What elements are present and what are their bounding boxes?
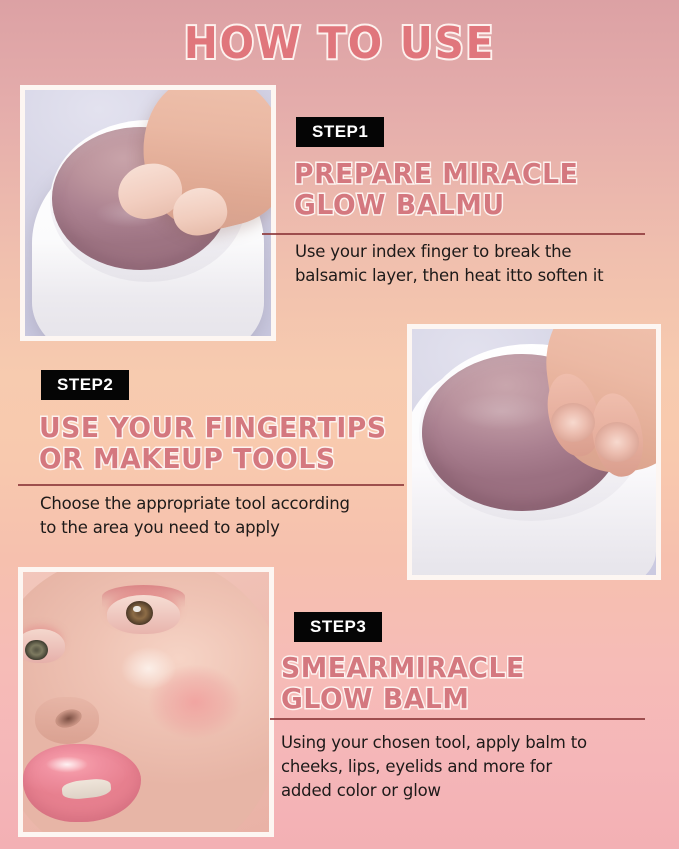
step-2-photo-image xyxy=(412,329,656,575)
step-1-heading: PREPARE MIRACLE GLOW BALMU xyxy=(294,158,636,221)
fingertip-first xyxy=(551,403,595,442)
fingertip-second xyxy=(595,422,639,461)
step-3-divider xyxy=(270,718,645,720)
step-3-photo-image xyxy=(23,572,269,832)
step-2-divider xyxy=(18,484,404,486)
iris-left xyxy=(25,640,47,661)
page-title: HOW TO USE xyxy=(27,22,652,66)
step-1-divider xyxy=(262,233,645,235)
cheek-highlight xyxy=(112,640,186,697)
step-3-badge: STEP3 xyxy=(294,612,382,642)
step-2-photo xyxy=(407,324,661,580)
how-to-use-poster: HOW TO USE STEP1 PREPARE MIRACLE GLOW BA… xyxy=(0,0,679,849)
lip-gloss-highlight xyxy=(40,754,94,775)
step-2-badge: STEP2 xyxy=(41,370,129,400)
step-2-heading: USE YOUR FINGERTIPS OR MAKEUP TOOLS xyxy=(39,412,400,475)
step-1-photo xyxy=(20,85,276,341)
step-3-photo xyxy=(18,567,274,837)
step-1-body-text: Use your index finger to break the balsa… xyxy=(295,240,655,288)
step-1-photo-image xyxy=(25,90,271,336)
step-1-badge: STEP1 xyxy=(296,117,384,147)
step-3-body-text: Using your chosen tool, apply balm to ch… xyxy=(281,731,651,803)
step-2-body-text: Choose the appropriate tool according to… xyxy=(40,492,410,540)
step-3-heading: SMEARMIRACLE GLOW BALM xyxy=(281,652,633,715)
